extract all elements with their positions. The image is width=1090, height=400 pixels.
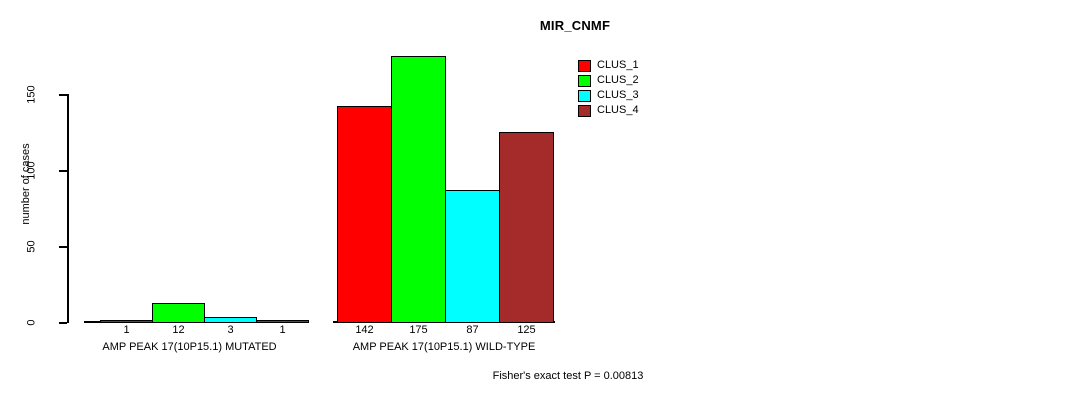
bar-count-group-2-clus-1: 142: [337, 324, 392, 337]
bar-count-group-1-clus-2: 12: [152, 324, 205, 337]
legend-swatch-icon-clus-3: [578, 90, 591, 102]
group-label-mutated: AMP PEAK 17(10P15.1) MUTATED: [84, 341, 295, 353]
bar-group-1-clus-4[interactable]: [256, 320, 309, 323]
legend-item-clus-1[interactable]: CLUS_1: [578, 58, 639, 73]
bars-layer: [0, 0, 1090, 323]
legend-label-clus-2: CLUS_2: [597, 75, 639, 86]
legend-swatch-icon-clus-4: [578, 105, 591, 117]
legend-item-clus-3[interactable]: CLUS_3: [578, 88, 639, 103]
bar-group-1-clus-2[interactable]: [152, 303, 205, 323]
legend-swatch-icon-clus-1: [578, 60, 591, 72]
statistical-test-annotation: Fisher's exact test P = 0.00813: [0, 370, 1090, 382]
bar-count-group-2-clus-2: 175: [391, 324, 446, 337]
legend-item-clus-2[interactable]: CLUS_2: [578, 73, 639, 88]
bar-count-group-1-clus-1: 1: [100, 324, 153, 337]
group-label-wild-type: AMP PEAK 17(10P15.1) WILD-TYPE: [333, 341, 555, 353]
bar-count-group-1-clus-4: 1: [256, 324, 309, 337]
bar-group-2-clus-3[interactable]: [445, 190, 500, 323]
legend-label-clus-1: CLUS_1: [597, 60, 639, 71]
bar-group-2-clus-2[interactable]: [391, 56, 446, 323]
statistical-test-text: Fisher's exact test P = 0.00813: [493, 370, 644, 382]
bar-group-2-clus-4[interactable]: [499, 132, 554, 323]
bar-count-group-1-clus-3: 3: [204, 324, 257, 337]
legend-label-clus-4: CLUS_4: [597, 105, 639, 116]
legend: CLUS_1 CLUS_2 CLUS_3 CLUS_4: [578, 58, 639, 118]
bar-group-1-clus-3[interactable]: [204, 317, 257, 323]
legend-label-clus-3: CLUS_3: [597, 90, 639, 101]
legend-item-clus-4[interactable]: CLUS_4: [578, 103, 639, 118]
bar-group-2-clus-1[interactable]: [337, 106, 392, 323]
bar-chart-plot: MIR_CNMF 0 50 100 150 number of cases 1 …: [0, 0, 1090, 400]
bar-count-group-2-clus-4: 125: [499, 324, 554, 337]
bar-count-group-2-clus-3: 87: [445, 324, 500, 337]
bar-group-1-clus-1[interactable]: [100, 320, 153, 323]
legend-swatch-icon-clus-2: [578, 75, 591, 87]
